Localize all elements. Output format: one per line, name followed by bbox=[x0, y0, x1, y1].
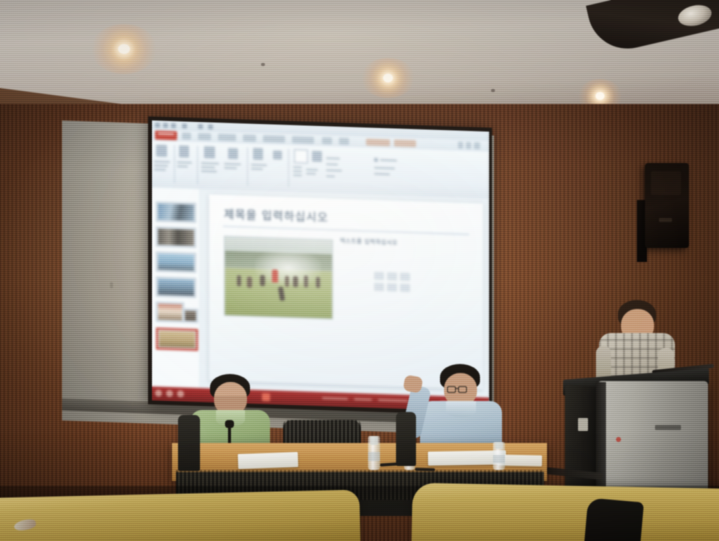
explorer-icon[interactable] bbox=[166, 390, 173, 397]
lecture-room-photo: 제목을 입력하십시오 bbox=[0, 0, 719, 541]
font-group-label bbox=[201, 166, 215, 168]
tab-review[interactable] bbox=[322, 137, 332, 144]
select-label bbox=[374, 173, 390, 176]
current-slide[interactable]: 제목을 입력하십시오 bbox=[209, 194, 483, 389]
slide-thumb-2[interactable] bbox=[156, 227, 196, 248]
photo-figure bbox=[316, 277, 320, 288]
glasses-bridge bbox=[455, 388, 459, 389]
paragraph-icon[interactable] bbox=[228, 148, 238, 159]
panelist-right-collar bbox=[446, 401, 476, 417]
drawing-group-label bbox=[251, 168, 263, 170]
ribbon-separator bbox=[247, 148, 248, 186]
tab-insert[interactable] bbox=[198, 133, 211, 140]
chair-behind-left bbox=[178, 415, 200, 471]
slide-thumb-3[interactable] bbox=[156, 252, 196, 273]
projected-image: 제목을 입력하십시오 bbox=[152, 120, 489, 411]
ribbon-separator bbox=[197, 146, 198, 184]
water-bottle-1 bbox=[368, 436, 380, 470]
paper-stack-1 bbox=[238, 452, 298, 469]
ribbon-separator bbox=[288, 149, 289, 187]
shape-fill-icon[interactable] bbox=[312, 151, 322, 162]
contextual-tab-format[interactable] bbox=[394, 139, 416, 147]
microphone-head bbox=[225, 420, 234, 428]
media-icon[interactable] bbox=[400, 284, 410, 292]
paragraph-group-label bbox=[224, 163, 241, 166]
drawing-group-label bbox=[293, 166, 302, 168]
thumb-image bbox=[158, 304, 182, 321]
status-text bbox=[322, 397, 348, 400]
font-group-label bbox=[201, 170, 217, 173]
start-button-icon[interactable] bbox=[155, 390, 162, 397]
fixture-lens-icon bbox=[676, 2, 714, 29]
new-slide-icon[interactable] bbox=[179, 145, 189, 157]
editing-group-label bbox=[326, 157, 340, 159]
eyeglasses-icon bbox=[447, 386, 475, 392]
find-label bbox=[380, 159, 397, 162]
water-bottle-3 bbox=[493, 442, 505, 470]
photo-figure bbox=[304, 275, 308, 287]
audience-desk-left bbox=[0, 490, 361, 541]
undo-icon[interactable] bbox=[163, 123, 168, 128]
presentation-app-window: 제목을 입력하십시오 bbox=[152, 120, 489, 411]
shapes-gallery[interactable] bbox=[294, 149, 308, 163]
editing-group-label bbox=[326, 175, 335, 177]
table-icon[interactable] bbox=[374, 272, 384, 280]
align-icon[interactable] bbox=[273, 150, 282, 159]
customize-qat-icon[interactable] bbox=[182, 123, 187, 128]
slide-thumb-5[interactable] bbox=[156, 302, 184, 323]
paragraph-group-label bbox=[224, 167, 237, 169]
tab-slideshow[interactable] bbox=[292, 136, 314, 144]
thumb-image bbox=[185, 311, 196, 321]
editing-group-label bbox=[326, 163, 338, 165]
paste-icon[interactable] bbox=[156, 145, 167, 157]
picture-icon[interactable] bbox=[374, 283, 384, 291]
audience-desk-right bbox=[411, 483, 719, 541]
thumb-image bbox=[158, 254, 194, 271]
window-close-icon[interactable] bbox=[474, 142, 480, 149]
chair-behind-right bbox=[396, 412, 416, 466]
wall-outlet bbox=[578, 418, 588, 431]
window-restore-icon[interactable] bbox=[466, 142, 471, 149]
bottle-cap bbox=[370, 436, 378, 445]
lens-right bbox=[458, 386, 467, 393]
clipboard-group-label bbox=[154, 168, 166, 170]
text-direction-icon[interactable] bbox=[253, 148, 263, 160]
slide-photo[interactable] bbox=[224, 236, 333, 320]
downlight-bulb bbox=[596, 92, 605, 100]
redo-icon[interactable] bbox=[171, 123, 176, 128]
drawing-group-label bbox=[306, 169, 318, 171]
slide-body-text: 텍스트를 입력하십시오 bbox=[340, 237, 398, 247]
pen-2 bbox=[415, 468, 435, 472]
chart-icon[interactable] bbox=[387, 272, 397, 280]
browser-icon[interactable] bbox=[177, 390, 184, 397]
font-group-label bbox=[201, 162, 219, 165]
editing-group-label bbox=[326, 169, 342, 172]
thumb-image bbox=[159, 331, 195, 348]
slide-thumbnail-pane[interactable] bbox=[152, 187, 200, 388]
find-icon[interactable] bbox=[374, 158, 378, 162]
slide-title-placeholder[interactable]: 제목을 입력하십시오 bbox=[224, 206, 329, 225]
photo-figure-red bbox=[272, 270, 278, 283]
photo-figure bbox=[260, 275, 264, 287]
photo-figure bbox=[285, 275, 289, 287]
tab-design[interactable] bbox=[218, 134, 236, 142]
status-text bbox=[354, 398, 372, 401]
ribbon-separator bbox=[174, 145, 175, 183]
clipboard-group-label bbox=[154, 164, 168, 166]
window-minimize-icon[interactable] bbox=[458, 142, 463, 149]
tab-animations[interactable] bbox=[263, 135, 285, 143]
slides-group-label bbox=[177, 161, 192, 163]
downlight-bulb bbox=[383, 74, 393, 83]
photo-figure bbox=[237, 275, 241, 286]
replace-label bbox=[374, 167, 395, 170]
photo-figure bbox=[247, 277, 251, 288]
slide-thumb-1[interactable] bbox=[156, 202, 196, 223]
clipboard-group-label bbox=[154, 160, 170, 163]
qat-extra-icon[interactable] bbox=[208, 124, 213, 129]
tab-view[interactable] bbox=[339, 138, 349, 145]
bottle-label bbox=[368, 452, 380, 461]
podium-logo bbox=[655, 425, 681, 430]
downlight-bulb bbox=[118, 44, 130, 54]
projection-screen: 제목을 입력하십시오 bbox=[148, 116, 492, 415]
slide-thumb-4[interactable] bbox=[156, 277, 196, 298]
drawing-group-label bbox=[306, 173, 316, 175]
status-text bbox=[378, 399, 408, 402]
drawing-group-label bbox=[251, 164, 267, 167]
thumb-image bbox=[158, 279, 194, 296]
slide-thumb-6[interactable] bbox=[156, 328, 198, 351]
tab-transitions[interactable] bbox=[243, 134, 256, 141]
drawing-group-label bbox=[293, 170, 302, 172]
drawing-group-label bbox=[293, 174, 302, 176]
smartart-icon[interactable] bbox=[400, 273, 410, 281]
ceiling-sensor-2 bbox=[491, 89, 495, 92]
tab-file[interactable] bbox=[155, 131, 177, 141]
contextual-tab-picture-tools[interactable] bbox=[366, 139, 390, 147]
slide-edit-area[interactable]: 제목을 입력하십시오 bbox=[199, 189, 489, 398]
ceiling-sensor-1 bbox=[261, 63, 265, 66]
qat-extra-icon[interactable] bbox=[198, 124, 203, 129]
photo-figure bbox=[293, 277, 297, 288]
clipart-icon[interactable] bbox=[387, 283, 397, 291]
thumb-image bbox=[158, 229, 194, 246]
slide-body-placeholder[interactable]: 텍스트를 입력하십시오 bbox=[340, 237, 469, 375]
powerpoint-icon[interactable] bbox=[262, 393, 270, 401]
podium-indicator-light bbox=[616, 437, 621, 442]
bottle-cap bbox=[495, 442, 503, 449]
tab-file-glyph bbox=[158, 133, 174, 136]
slides-group-label bbox=[177, 165, 188, 167]
save-icon[interactable] bbox=[155, 123, 160, 128]
tab-home[interactable] bbox=[182, 132, 191, 139]
slide-title-divider bbox=[223, 226, 469, 235]
content-placeholder-icons[interactable] bbox=[374, 272, 410, 295]
lectern-podium bbox=[596, 381, 708, 491]
bottle-label bbox=[493, 455, 505, 462]
font-icon[interactable] bbox=[204, 146, 215, 158]
foreground-chair bbox=[584, 498, 644, 541]
thumb-image bbox=[158, 204, 194, 221]
slide-thumb-5b[interactable] bbox=[183, 308, 198, 322]
